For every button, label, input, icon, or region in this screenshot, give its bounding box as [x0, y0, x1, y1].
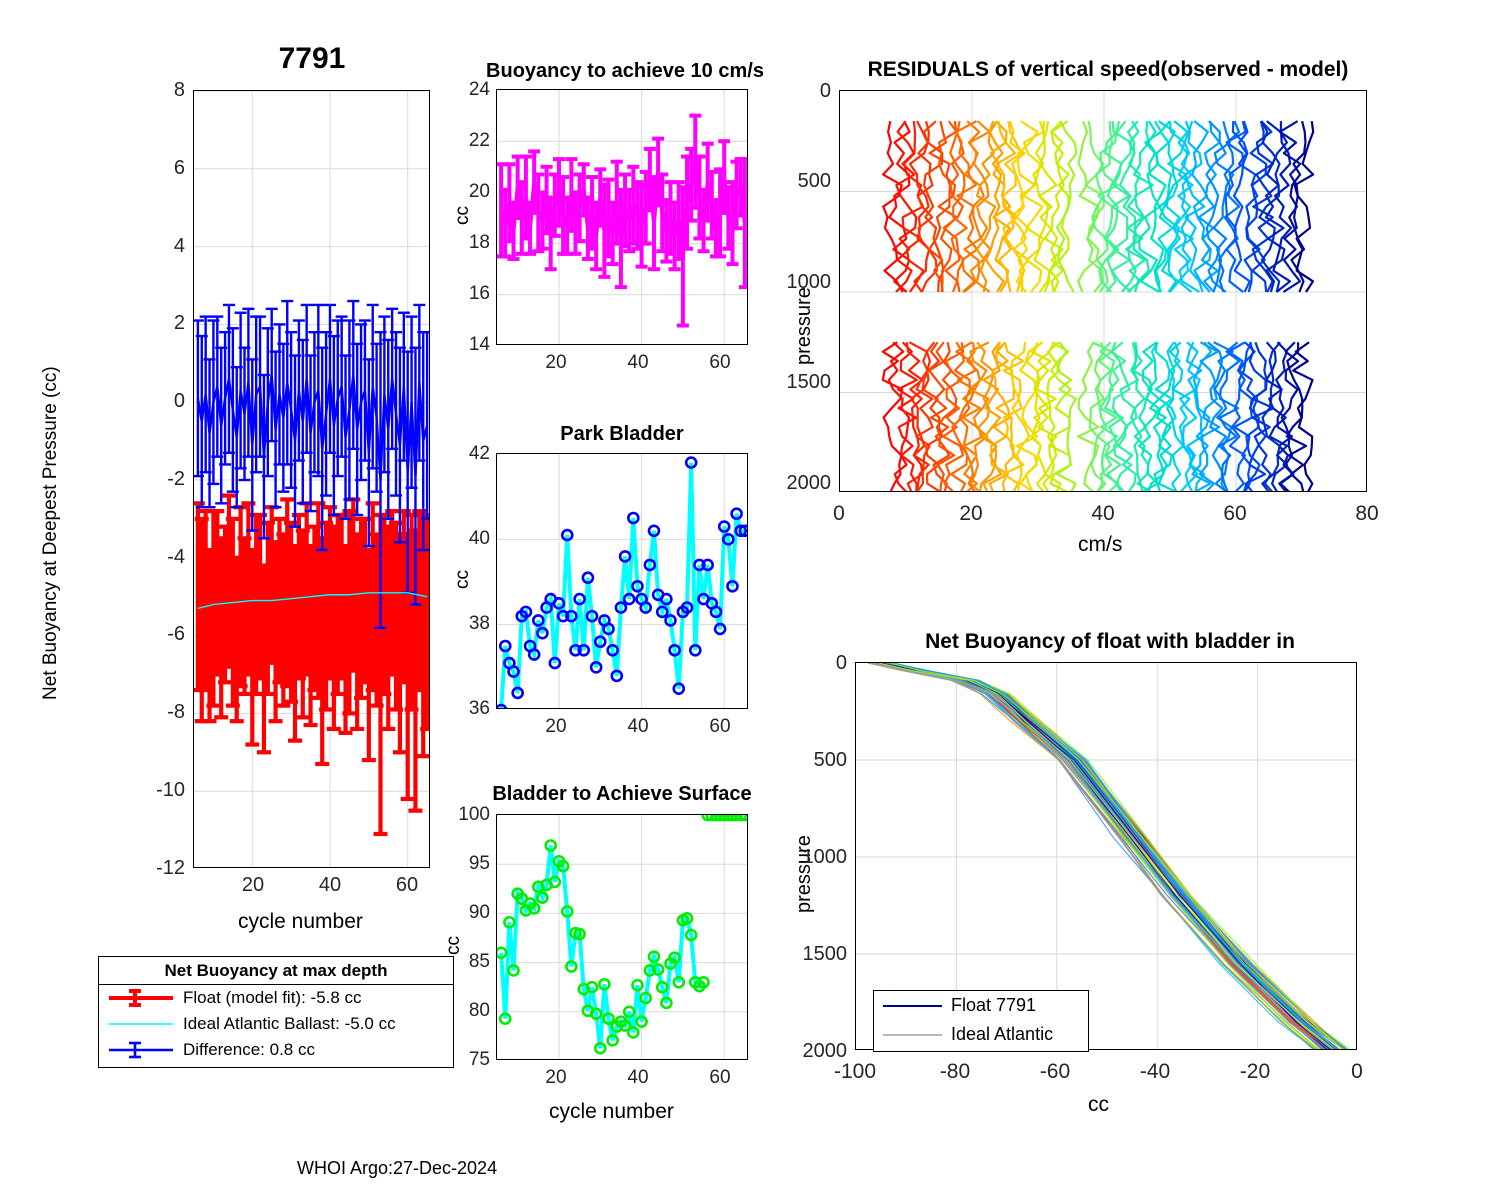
- main-ytick-4: 0: [140, 390, 185, 413]
- park-xtick-1: 40: [614, 716, 662, 738]
- surface-xtick-1: 40: [614, 1067, 662, 1089]
- netbuoy-xtick-2: -60: [1023, 1060, 1087, 1084]
- main-ytick-0: 8: [140, 79, 185, 102]
- main-legend-item-2: Difference: 0.8 cc: [99, 1037, 453, 1063]
- residuals-ylabel: pressure: [793, 287, 816, 365]
- netbuoy-legend-item-1: Ideal Atlantic: [874, 1020, 1088, 1049]
- park-ytick-1: 40: [448, 528, 490, 550]
- residuals-xtick-0: 0: [815, 502, 863, 526]
- residuals-xtick-3: 60: [1211, 502, 1259, 526]
- surface-axes: [496, 814, 748, 1060]
- residuals-ytick-0: 0: [773, 80, 831, 103]
- residuals-axes: [839, 90, 1367, 492]
- netbuoy-xtick-4: -20: [1223, 1060, 1287, 1084]
- buoyancy-xtick-1: 40: [614, 352, 662, 374]
- buoyancy-ytick-1: 22: [448, 130, 490, 152]
- main-legend-label-2: Difference: 0.8 cc: [183, 1040, 315, 1060]
- residuals-xtick-1: 20: [947, 502, 995, 526]
- park-xtick-2: 60: [696, 716, 744, 738]
- surface-ytick-0: 100: [433, 804, 490, 826]
- legend-errorbar-red-icon: [107, 987, 177, 1009]
- main-ytick-7: -6: [140, 623, 185, 646]
- buoyancy-axes: [496, 89, 748, 345]
- buoyancy-ytick-2: 20: [448, 181, 490, 203]
- park-xtick-0: 20: [532, 716, 580, 738]
- netbuoy-title: Net Buoyancy of float with bladder in: [860, 630, 1360, 654]
- park-ytick-3: 36: [448, 698, 490, 720]
- main-legend-item-1: Ideal Atlantic Ballast: -5.0 cc: [99, 1011, 453, 1037]
- park-axes: [496, 453, 748, 709]
- main-legend-item-0: Float (model fit): -5.8 cc: [99, 985, 453, 1011]
- legend-line-cyan-icon: [107, 1013, 177, 1035]
- surface-title: Bladder to Achieve Surface: [466, 783, 778, 806]
- netbuoy-xtick-3: -40: [1123, 1060, 1187, 1084]
- surface-ytick-4: 80: [440, 1000, 490, 1022]
- surface-ytick-5: 75: [440, 1049, 490, 1071]
- netbuoy-xtick-5: 0: [1325, 1060, 1389, 1084]
- netbuoy-legend: Float 7791 Ideal Atlantic: [873, 990, 1089, 1052]
- netbuoy-xtick-0: -100: [823, 1060, 887, 1084]
- main-ytick-5: -2: [140, 468, 185, 491]
- buoyancy-ytick-4: 16: [448, 283, 490, 305]
- netbuoy-xlabel: cc: [1088, 1093, 1109, 1117]
- residuals-xtick-2: 40: [1079, 502, 1127, 526]
- main-ytick-8: -8: [140, 701, 185, 724]
- legend-line-gray-icon: [880, 1025, 946, 1045]
- buoyancy-xtick-2: 60: [696, 352, 744, 374]
- park-ytick-0: 42: [448, 443, 490, 465]
- netbuoy-legend-label-1: Ideal Atlantic: [951, 1024, 1053, 1045]
- surface-xtick-2: 60: [696, 1067, 744, 1089]
- surface-xtick-0: 20: [532, 1067, 580, 1089]
- residuals-ytick-4: 2000: [766, 472, 831, 495]
- residuals-ytick-2: 1000: [766, 271, 831, 294]
- surface-ytick-1: 95: [440, 853, 490, 875]
- main-xlabel: cycle number: [238, 910, 363, 934]
- netbuoy-ytick-3: 1500: [782, 943, 847, 966]
- main-axes: [193, 90, 430, 868]
- main-ytick-3: 2: [140, 312, 185, 335]
- netbuoy-ytick-1: 500: [789, 749, 847, 772]
- main-ytick-1: 6: [140, 157, 185, 180]
- residuals-title: RESIDUALS of vertical speed(observed - m…: [828, 58, 1388, 82]
- main-ytick-10: -12: [133, 857, 185, 880]
- main-ytick-9: -10: [133, 779, 185, 802]
- buoyancy-xtick-0: 20: [532, 352, 580, 374]
- surface-ytick-2: 90: [440, 902, 490, 924]
- park-ylabel: cc: [452, 570, 474, 589]
- surface-ytick-3: 85: [440, 951, 490, 973]
- main-legend-label-0: Float (model fit): -5.8 cc: [183, 988, 362, 1008]
- main-xtick-1: 40: [305, 874, 355, 897]
- main-legend-label-1: Ideal Atlantic Ballast: -5.0 cc: [183, 1014, 396, 1034]
- main-ytick-6: -4: [140, 546, 185, 569]
- netbuoy-xtick-1: -80: [923, 1060, 987, 1084]
- park-title: Park Bladder: [496, 423, 748, 446]
- legend-line-navy-icon: [880, 996, 946, 1016]
- buoyancy-ylabel: cc: [452, 206, 474, 225]
- main-legend: Net Buoyancy at max depth Float (model f…: [98, 956, 454, 1068]
- buoyancy-ytick-5: 14: [448, 334, 490, 356]
- residuals-xtick-4: 80: [1343, 502, 1391, 526]
- park-ytick-2: 38: [448, 613, 490, 635]
- residuals-xlabel: cm/s: [1078, 533, 1122, 557]
- main-ytick-2: 4: [140, 235, 185, 258]
- buoyancy-ytick-3: 18: [448, 232, 490, 254]
- residuals-ytick-3: 1500: [766, 371, 831, 394]
- main-ylabel: Net Buoyancy at Deepest Pressure (cc): [40, 366, 62, 700]
- main-title: 7791: [193, 42, 431, 76]
- main-legend-title: Net Buoyancy at max depth: [99, 957, 453, 985]
- main-xtick-2: 60: [382, 874, 432, 897]
- main-xtick-0: 20: [228, 874, 278, 897]
- buoyancy-title: Buoyancy to achieve 10 cm/s: [455, 60, 795, 83]
- netbuoy-legend-label-0: Float 7791: [951, 995, 1036, 1016]
- residuals-ytick-1: 500: [773, 170, 831, 193]
- netbuoy-legend-item-0: Float 7791: [874, 991, 1088, 1020]
- netbuoy-ytick-0: 0: [789, 652, 847, 675]
- footer-credit: WHOI Argo:27-Dec-2024: [297, 1158, 497, 1179]
- netbuoy-ytick-2: 1000: [782, 846, 847, 869]
- legend-errorbar-blue-icon: [107, 1039, 177, 1061]
- surface-xlabel: cycle number: [549, 1100, 674, 1124]
- buoyancy-ytick-0: 24: [448, 79, 490, 101]
